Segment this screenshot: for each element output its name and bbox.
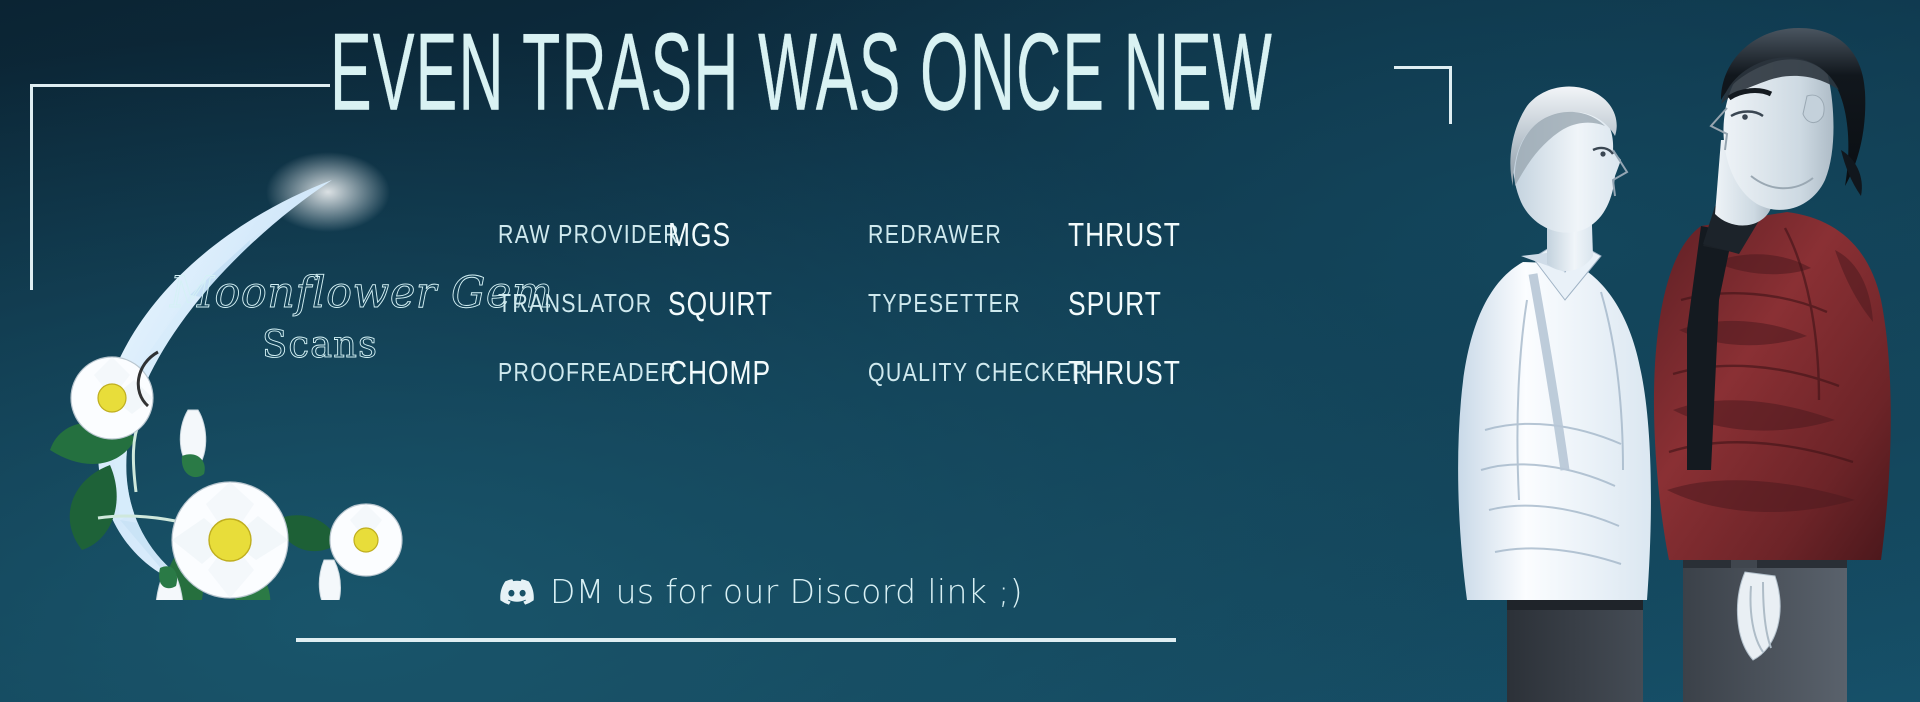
credit-name: THRUST	[1068, 354, 1204, 392]
credit-role: REDRAWER	[868, 219, 1032, 250]
credit-role: TYPESETTER	[868, 288, 1032, 319]
moonflower-bloom	[172, 482, 288, 598]
credits-table: RAW PROVIDER MGS REDRAWER THRUST TRANSLA…	[498, 200, 1238, 407]
discord-icon	[500, 579, 534, 605]
discord-invite-text: DM us for our Discord link ;)	[550, 572, 1023, 611]
credit-name: THRUST	[1068, 216, 1204, 254]
credit-name: CHOMP	[668, 354, 828, 392]
moonflower-cluster	[50, 352, 402, 600]
cover-artwork	[1415, 0, 1920, 702]
bottom-divider-rule	[296, 638, 1176, 642]
credit-role: TRANSLATOR	[498, 288, 637, 319]
page-title: EVEN TRASH WAS ONCE NEW	[330, 18, 870, 127]
crescent-moon-icon	[40, 120, 460, 600]
credit-name: MGS	[668, 216, 828, 254]
credit-role: RAW PROVIDER	[498, 219, 637, 250]
credit-name: SPURT	[1068, 285, 1204, 323]
frame-top-left-vertical	[30, 84, 33, 290]
credits-banner: EVEN TRASH WAS ONCE NEW	[0, 0, 1920, 702]
character-right	[1654, 28, 1891, 702]
character-left	[1458, 87, 1651, 702]
credit-role: QUALITY CHECKER	[868, 357, 1032, 388]
discord-invite[interactable]: DM us for our Discord link ;)	[500, 572, 1023, 611]
frame-top-left-horizontal	[30, 84, 330, 87]
credit-role: PROOFREADER	[498, 357, 637, 388]
scanlation-logo: Moonflower Gem Scans	[40, 120, 460, 600]
credit-name: SQUIRT	[668, 285, 828, 323]
